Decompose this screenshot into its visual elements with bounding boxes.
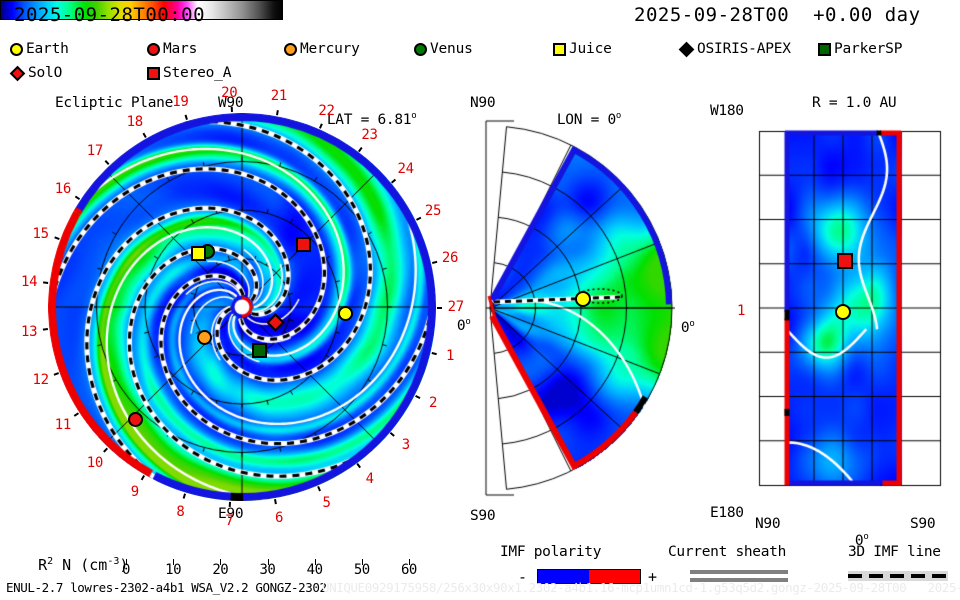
legend-label: Venus — [430, 41, 473, 57]
meridional-right-axis-label: 0o — [664, 303, 694, 336]
carrington-label-1: 1 — [446, 348, 454, 364]
carrington-label-3: 3 — [402, 437, 410, 453]
colorbar-tick-label: 20 — [212, 562, 228, 578]
circle-marker-icon — [284, 43, 297, 56]
imf-dash — [890, 574, 904, 578]
legend-item-mercury: Mercury — [284, 40, 360, 58]
carrington-label-19: 19 — [172, 94, 188, 110]
carrington-label-22: 22 — [318, 103, 334, 119]
carrington-label-9: 9 — [131, 484, 139, 500]
legend-item-parkersp: ParkerSP — [818, 40, 902, 58]
colorbar-units: N (cm — [53, 556, 107, 574]
carrington-label-5: 5 — [323, 495, 331, 511]
legend-item-earth: Earth — [10, 40, 69, 58]
imf-dash — [869, 574, 883, 578]
carrington-label-11: 11 — [55, 417, 71, 433]
footer-model-info: ENUL-2.7 lowres-2302-a4b1 WSA_V2.2 GONGZ… — [6, 580, 327, 595]
ecliptic-marker-parkersp[interactable] — [252, 343, 267, 358]
carrington-label-24: 24 — [398, 161, 414, 177]
carrington-tick — [437, 307, 442, 309]
colorbar-tick-label: 0 — [122, 562, 130, 578]
meridional-bottom-label: S90 — [470, 508, 495, 524]
imf-dash — [848, 574, 862, 578]
carrington-label-25: 25 — [425, 203, 441, 219]
colorbar-tick-label: 50 — [354, 562, 370, 578]
colorbar-tick-label: 40 — [307, 562, 323, 578]
legend-label: Stereo_A — [163, 65, 231, 81]
r1au-title: R = 1.0 AU — [812, 95, 896, 111]
r1au-x-right-label: S90 — [910, 516, 935, 532]
ecliptic-density-map — [48, 113, 436, 501]
imf3d-title: 3D IMF line — [848, 544, 941, 560]
colorbar-exp2: -3 — [107, 556, 119, 567]
ecliptic-marker-mars[interactable] — [128, 412, 143, 427]
diamond-marker-icon — [10, 65, 26, 81]
meridional-density-map — [480, 113, 675, 503]
degree-symbol-right: o — [465, 317, 470, 327]
carrington-tick — [43, 328, 48, 330]
legend-label: ParkerSP — [834, 41, 902, 57]
legend-item-mars: Mars — [147, 40, 197, 58]
datestamp-right: 2025-09-28T00 +0.00 day — [634, 4, 921, 26]
legend-label: Mars — [163, 41, 197, 57]
r1au-bottom-label: E180 — [710, 505, 744, 521]
circle-marker-icon — [10, 43, 23, 56]
meridional-marker-earth[interactable] — [575, 291, 591, 307]
legend-label: Earth — [26, 41, 69, 57]
r1au-y-label: 1 — [737, 303, 745, 319]
carrington-label-2: 2 — [429, 395, 437, 411]
carrington-label-10: 10 — [87, 455, 103, 471]
carrington-label-13: 13 — [21, 324, 37, 340]
colorbar-r: R — [38, 556, 47, 574]
meridional-plane-plot[interactable] — [480, 113, 675, 503]
carrington-label-8: 8 — [176, 504, 184, 520]
square-marker-icon — [147, 67, 160, 80]
ecliptic-marker-juice[interactable] — [191, 246, 206, 261]
legend-item-solo: SolO — [10, 64, 62, 82]
r1au-top-label: W180 — [710, 103, 744, 119]
mer-degree: o — [689, 319, 694, 329]
legend-item-osiris-apex: OSIRIS-APEX — [679, 40, 791, 58]
carrington-label-23: 23 — [361, 127, 377, 143]
r1au-marker-stereo-a[interactable] — [837, 253, 853, 269]
carrington-label-6: 6 — [275, 510, 283, 526]
ecliptic-marker-stereo-a[interactable] — [296, 237, 311, 252]
legend-label: OSIRIS-APEX — [697, 41, 791, 57]
legend-item-juice: Juice — [553, 40, 612, 58]
carrington-label-21: 21 — [271, 88, 287, 104]
circle-marker-icon — [147, 43, 160, 56]
colorbar-label: R2 N (cm-3) — [20, 538, 128, 574]
carrington-label-15: 15 — [33, 226, 49, 242]
ecliptic-marker-earth[interactable] — [338, 306, 353, 321]
imf-dash — [911, 574, 925, 578]
ecliptic-plane-plot[interactable] — [48, 113, 436, 501]
carrington-label-18: 18 — [127, 114, 143, 130]
carrington-label-12: 12 — [33, 372, 49, 388]
carrington-label-14: 14 — [21, 274, 37, 290]
ecliptic-panel-title: Ecliptic Plane — [55, 95, 173, 111]
circle-marker-icon — [414, 43, 427, 56]
ecliptic-marker-mercury[interactable] — [197, 330, 212, 345]
carrington-label-7: 7 — [225, 513, 233, 529]
imf-dash — [932, 574, 946, 578]
datestamp-left: 2025-09-28T00:00 — [14, 4, 205, 26]
carrington-tick — [230, 107, 232, 112]
carrington-label-27: 27 — [448, 299, 464, 315]
legend-label: Mercury — [300, 41, 360, 57]
carrington-label-26: 26 — [442, 250, 458, 266]
r1au-marker-earth[interactable] — [835, 304, 851, 320]
colorbar-tick-label: 10 — [165, 562, 181, 578]
legend-label: Juice — [569, 41, 612, 57]
carrington-label-20: 20 — [221, 85, 237, 101]
carrington-label-4: 4 — [366, 471, 374, 487]
legend-label: SolO — [28, 65, 62, 81]
footer-watermark: UNIQUE0929175958/256x30x90x1.2302-a4b1.1… — [322, 580, 960, 595]
r1au-x-left-label: N90 — [755, 516, 780, 532]
colorbar-tick-label: 30 — [260, 562, 276, 578]
diamond-marker-icon — [679, 41, 695, 57]
current-sheath-line-1 — [690, 570, 788, 574]
carrington-label-17: 17 — [87, 143, 103, 159]
legend-item-stereo-a: Stereo_A — [147, 64, 231, 82]
carrington-tick — [229, 502, 231, 507]
current-sheath-title: Current sheath — [668, 544, 786, 560]
legend-item-venus: Venus — [414, 40, 473, 58]
carrington-tick — [43, 282, 48, 284]
square-marker-icon — [818, 43, 831, 56]
square-marker-icon — [553, 43, 566, 56]
imf-polarity-title: IMF polarity — [500, 544, 601, 560]
carrington-label-16: 16 — [55, 181, 71, 197]
colorbar-tick-label: 60 — [401, 562, 417, 578]
meridional-top-label: N90 — [470, 95, 495, 111]
r1au-degree: o — [863, 532, 868, 542]
